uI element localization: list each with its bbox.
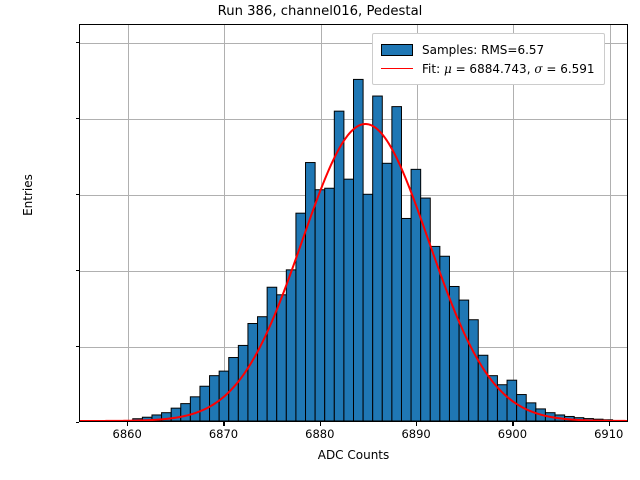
figure-canvas: Run 386, channel016, Pedestal Entries AD… — [0, 0, 640, 480]
legend-line-swatch-icon — [381, 63, 413, 75]
x-tick-mark — [416, 422, 417, 426]
x-tick-label: 6900 — [498, 427, 527, 441]
x-tick-label: 6890 — [401, 427, 430, 441]
x-tick-mark — [223, 422, 224, 426]
y-axis-label: Entries — [21, 135, 35, 255]
x-tick-label: 6910 — [594, 427, 623, 441]
x-tick-mark — [512, 422, 513, 426]
x-tick-mark — [320, 422, 321, 426]
x-tick-label: 6860 — [113, 427, 142, 441]
x-axis-label: ADC Counts — [79, 448, 628, 462]
legend-mu-symbol: μ — [444, 62, 452, 76]
x-tick-label: 6880 — [305, 427, 334, 441]
x-tick-mark — [609, 422, 610, 426]
legend-patch-swatch-icon — [381, 44, 413, 56]
x-tick-label: 6870 — [209, 427, 238, 441]
legend-sigma-value: = 6.591 — [543, 62, 595, 76]
page-title: Run 386, channel016, Pedestal — [0, 4, 640, 19]
legend-item-samples: Samples: RMS=6.57 — [381, 40, 595, 59]
legend-label-samples: Samples: RMS=6.57 — [422, 43, 544, 57]
legend-box[interactable]: Samples: RMS=6.57 Fit: μ = 6884.743, σ =… — [372, 33, 605, 85]
y-tick-mark — [76, 422, 80, 423]
fit-curve-path — [80, 124, 627, 421]
legend-item-fit: Fit: μ = 6884.743, σ = 6.591 — [381, 59, 595, 78]
x-tick-mark — [127, 422, 128, 426]
legend-sigma-symbol: σ — [534, 62, 542, 76]
legend-label-fit: Fit: μ = 6884.743, σ = 6.591 — [422, 62, 595, 76]
legend-fit-prefix: Fit: — [422, 62, 444, 76]
legend-mu-value: = 6884.743, — [452, 62, 535, 76]
